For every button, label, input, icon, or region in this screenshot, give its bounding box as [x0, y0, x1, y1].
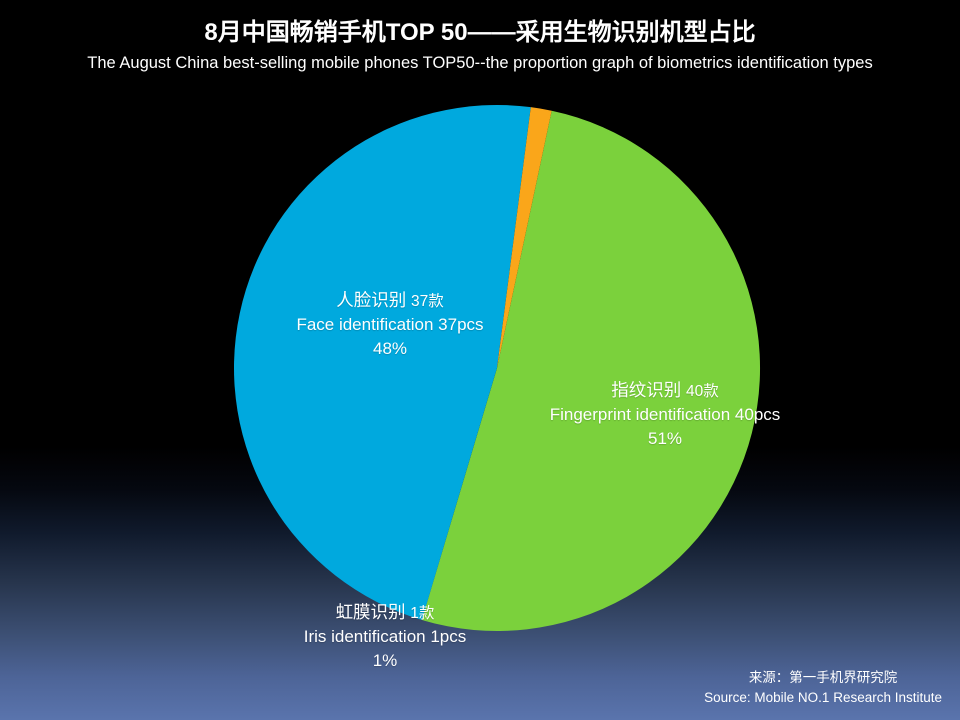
slice-label-face-cn-name: 人脸识别 [336, 290, 406, 310]
slice-label-face-percent: 48% [245, 337, 535, 361]
slice-label-face-cn-count: 37款 [411, 293, 444, 310]
page-title-english: The August China best-selling mobile pho… [0, 52, 960, 74]
slice-label-fingerprint-percent: 51% [505, 427, 825, 451]
slide-canvas: 8月中国畅销手机TOP 50——采用生物识别机型占比 The August Ch… [0, 0, 960, 720]
slice-label-face-line-english: Face identification 37pcs [245, 313, 535, 337]
slice-label-fingerprint-line-chinese: 指纹识别 40款 [505, 378, 825, 403]
slice-label-iris-cn-count: 1款 [410, 605, 434, 622]
title-block: 8月中国畅销手机TOP 50——采用生物识别机型占比 The August Ch… [0, 18, 960, 74]
slice-label-fingerprint-cn-count: 40款 [686, 383, 719, 400]
slice-label-iris-line-chinese: 虹膜识别 1款 [240, 600, 530, 625]
source-text-english: Source: Mobile NO.1 Research Institute [704, 688, 942, 708]
slice-label-iris-line-english: Iris identification 1pcs [240, 625, 530, 649]
page-title-chinese: 8月中国畅销手机TOP 50——采用生物识别机型占比 [0, 18, 960, 48]
slice-label-fingerprint-identification: 指纹识别 40款 Fingerprint identification 40pc… [505, 378, 825, 451]
source-attribution: 来源：第一手机界研究院 Source: Mobile NO.1 Research… [704, 668, 942, 708]
slice-label-fingerprint-line-english: Fingerprint identification 40pcs [505, 403, 825, 427]
slice-label-face-line-chinese: 人脸识别 37款 [245, 288, 535, 313]
slice-label-fingerprint-cn-name: 指纹识别 [611, 380, 681, 400]
slice-label-iris-percent: 1% [240, 649, 530, 673]
pie-slice-group [234, 105, 760, 631]
slice-label-face-identification: 人脸识别 37款 Face identification 37pcs 48% [245, 288, 535, 361]
slice-label-iris-cn-name: 虹膜识别 [336, 602, 406, 622]
source-text-chinese: 来源：第一手机界研究院 [704, 668, 942, 688]
slice-label-iris-identification: 虹膜识别 1款 Iris identification 1pcs 1% [240, 600, 530, 673]
